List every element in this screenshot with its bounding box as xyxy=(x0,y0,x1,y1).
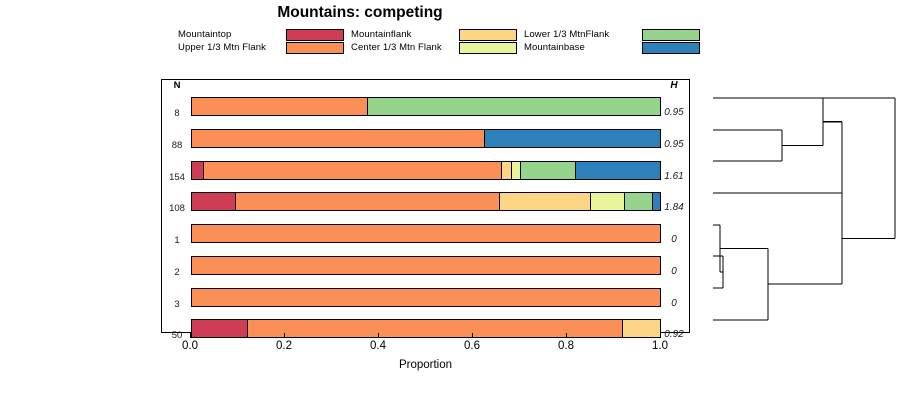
x-tick-label: 0.0 xyxy=(170,340,210,352)
legend-swatch-upper-third xyxy=(286,42,344,54)
stacked-bar xyxy=(191,192,661,211)
legend-label: Mountainbase xyxy=(524,41,585,54)
x-tick-label: 0.8 xyxy=(546,340,586,352)
x-tick-mark xyxy=(284,333,285,338)
x-tick-label: 0.2 xyxy=(264,340,304,352)
x-tick-label: 1.0 xyxy=(640,340,680,352)
dendrogram-svg xyxy=(690,79,900,333)
x-tick-mark xyxy=(378,333,379,338)
bar-segment xyxy=(204,162,502,179)
legend-label: Mountaintop xyxy=(178,28,231,41)
row-n-value: 2 xyxy=(164,267,190,278)
table-row: THORTON80.95 xyxy=(162,97,691,129)
bar-segment xyxy=(192,98,368,115)
bar-segment xyxy=(192,257,660,274)
plot-frame: N H THORTON80.95BOULDERJUD880.95BOULDERC… xyxy=(161,79,690,333)
row-n-value: 8 xyxy=(164,108,190,119)
x-tick-mark xyxy=(566,333,567,338)
column-header-n: N xyxy=(164,80,190,91)
bar-segment xyxy=(576,162,660,179)
bar-segment xyxy=(192,193,236,210)
stacked-bar xyxy=(191,288,661,307)
table-row: HONEYJONES1081.84 xyxy=(162,192,691,224)
legend: MountaintopUpper 1/3 Mtn FlankMountainfl… xyxy=(178,28,698,56)
x-axis: 0.00.20.40.60.81.0 Proportion xyxy=(161,333,690,379)
row-h-value: 0.95 xyxy=(658,107,690,118)
stacked-bar xyxy=(191,224,661,243)
bar-segment xyxy=(192,162,204,179)
legend-label: Lower 1/3 MtnFlank xyxy=(524,28,609,41)
legend-label: Center 1/3 Mtn Flank xyxy=(351,41,442,54)
x-tick-label: 0.6 xyxy=(452,340,492,352)
column-header-h: H xyxy=(658,80,690,91)
stacked-bar xyxy=(191,256,661,275)
table-row: BOULDERCREEK1541.61 xyxy=(162,161,691,193)
row-h-value: 1.61 xyxy=(658,171,690,182)
bar-segment xyxy=(192,225,660,242)
row-n-value: 3 xyxy=(164,299,190,310)
row-h-value: 0.95 xyxy=(658,139,690,150)
row-h-value: 1.84 xyxy=(658,202,690,213)
x-tick-mark xyxy=(472,333,473,338)
x-tick-mark xyxy=(660,333,661,338)
dendro-node-b xyxy=(713,98,823,146)
stacked-bar xyxy=(191,161,661,180)
x-tick-mark xyxy=(190,333,191,338)
row-n-value: 108 xyxy=(164,203,190,214)
row-h-value: 0 xyxy=(658,298,690,309)
x-tick-label: 0.4 xyxy=(358,340,398,352)
bar-segment xyxy=(521,162,576,179)
bar-segment xyxy=(625,193,653,210)
legend-label: Mountainflank xyxy=(351,28,411,41)
x-axis-title: Proportion xyxy=(161,359,690,371)
table-row: THREECENT20 xyxy=(162,256,691,288)
legend-label: Upper 1/3 Mtn Flank xyxy=(178,41,266,54)
stacked-bar xyxy=(191,97,661,116)
stacked-bar xyxy=(191,129,661,148)
chart-page: Mountains: competing MountaintopUpper 1/… xyxy=(0,0,900,400)
legend-swatch-mountainbase xyxy=(642,42,700,54)
row-h-value: 0 xyxy=(658,234,690,245)
bar-segment xyxy=(502,162,512,179)
bar-segment xyxy=(485,130,661,147)
bar-segment xyxy=(192,289,660,306)
bar-segment xyxy=(192,130,485,147)
bar-segment xyxy=(591,193,626,210)
legend-swatch-center-third xyxy=(459,42,517,54)
row-h-value: 0 xyxy=(658,266,690,277)
bar-segment xyxy=(236,193,500,210)
dendrogram xyxy=(690,79,900,333)
row-n-value: 88 xyxy=(164,140,190,151)
dendro-node-a xyxy=(713,130,782,161)
dendro-node-f xyxy=(713,249,768,321)
bar-segment xyxy=(500,193,591,210)
dendro-node-g xyxy=(768,193,842,284)
legend-swatch-mountainflank xyxy=(459,29,517,41)
table-row: TWOBIT10 xyxy=(162,224,691,256)
table-row: GUTRIDGE30 xyxy=(162,288,691,320)
bar-segment xyxy=(512,162,521,179)
row-n-value: 154 xyxy=(164,172,190,183)
legend-swatch-mountaintop xyxy=(286,29,344,41)
page-title: Mountains: competing xyxy=(0,4,720,22)
bar-segment xyxy=(368,98,661,115)
table-row: BOULDERJUD880.95 xyxy=(162,129,691,161)
legend-swatch-lower-third xyxy=(642,29,700,41)
row-n-value: 1 xyxy=(164,235,190,246)
